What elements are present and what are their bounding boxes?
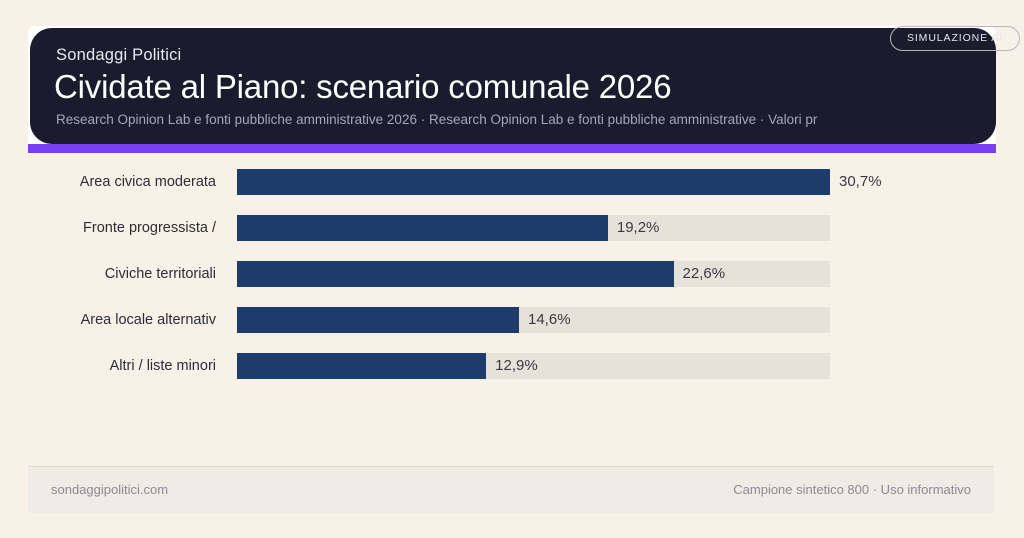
bar-fill (237, 169, 830, 195)
table-row: Altri / liste minori 12,9% (0, 352, 1024, 380)
header-card: Sondaggi Politici Cividate al Piano: sce… (30, 28, 996, 144)
bar-track (237, 261, 830, 287)
bar-fill (237, 215, 608, 241)
bar-value: 30,7% (839, 168, 882, 196)
bar-value: 14,6% (528, 306, 571, 334)
bar-label: Area locale alternativ (0, 306, 216, 334)
bar-label: Fronte progressista / (0, 214, 216, 242)
bar-track (237, 215, 830, 241)
footer-source: sondaggipolitici.com (51, 467, 168, 513)
bar-fill (237, 261, 674, 287)
infographic-root: Sondaggi Politici Cividate al Piano: sce… (0, 0, 1024, 538)
table-row: Civiche territoriali 22,6% (0, 260, 1024, 288)
footer-note: Campione sintetico 800 · Uso informativo (733, 467, 971, 513)
bar-track (237, 169, 830, 195)
bar-label: Altri / liste minori (0, 352, 216, 380)
bar-value: 19,2% (617, 214, 660, 242)
bar-label: Area civica moderata (0, 168, 216, 196)
accent-divider (28, 144, 996, 153)
header-subtitle: Research Opinion Lab e fonti pubbliche a… (56, 112, 986, 127)
page-title: Cividate al Piano: scenario comunale 202… (54, 68, 671, 106)
table-row: Fronte progressista / 19,2% (0, 214, 1024, 242)
bar-value: 12,9% (495, 352, 538, 380)
table-row: Area locale alternativ 14,6% (0, 306, 1024, 334)
bar-fill (237, 353, 486, 379)
header-kicker: Sondaggi Politici (56, 46, 181, 65)
bar-label: Civiche territoriali (0, 260, 216, 288)
bar-chart: Area civica moderata 30,7% Fronte progre… (0, 168, 1024, 408)
footer: sondaggipolitici.com Campione sintetico … (28, 466, 994, 513)
status-badge: SIMULAZIONE AI (890, 26, 1020, 51)
table-row: Area civica moderata 30,7% (0, 168, 1024, 196)
bar-value: 22,6% (683, 260, 726, 288)
bar-fill (237, 307, 519, 333)
